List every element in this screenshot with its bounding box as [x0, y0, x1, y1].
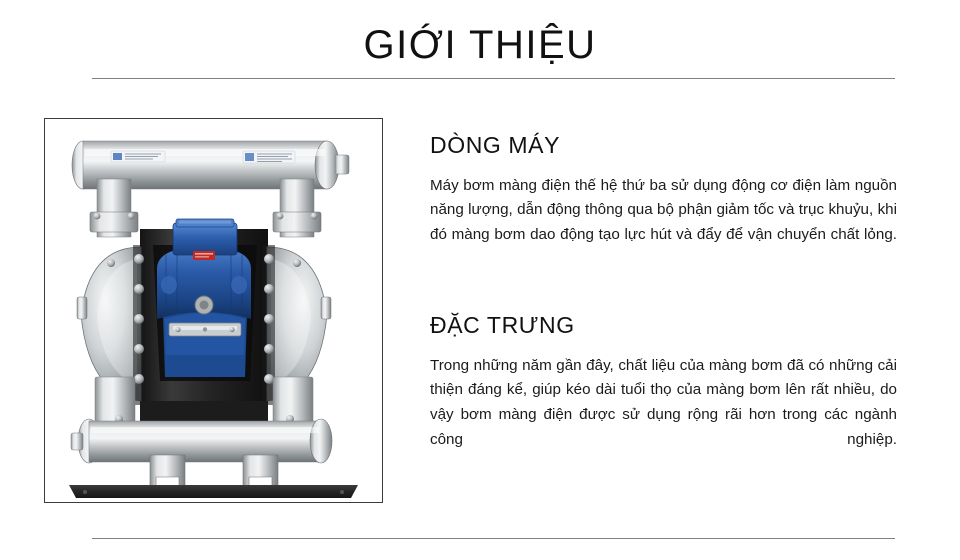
section-dong-may: DÒNG MÁY Máy bơm màng điện thế hệ thứ ba…	[430, 132, 897, 272]
section-body-dong-may: Máy bơm màng điện thế hệ thứ ba sử dụng …	[430, 174, 897, 273]
motor-nameplate	[193, 251, 215, 260]
section-heading-dong-may: DÒNG MÁY	[430, 132, 897, 160]
section-dac-trung: ĐẶC TRƯNG Trong những năm gần đây, chất …	[430, 312, 897, 477]
pump-base-plate	[69, 485, 358, 498]
slide-root: GIỚI THIỆU	[0, 0, 960, 560]
section-heading-dac-trung: ĐẶC TRƯNG	[430, 312, 897, 340]
diaphragm-pump-illustration	[45, 119, 382, 502]
section-body-dac-trung: Trong những năm gần đây, chất liệu của m…	[430, 354, 897, 477]
text-column: DÒNG MÁY Máy bơm màng điện thế hệ thứ ba…	[430, 132, 897, 477]
page-title: GIỚI THIỆU	[0, 22, 960, 68]
product-image-frame	[44, 118, 383, 503]
divider-top	[92, 78, 895, 79]
divider-bottom	[92, 538, 895, 539]
motor-terminal-box	[173, 223, 237, 255]
product-image	[45, 119, 382, 502]
mounting-foot-right	[243, 455, 278, 487]
mounting-foot-left	[150, 455, 185, 487]
